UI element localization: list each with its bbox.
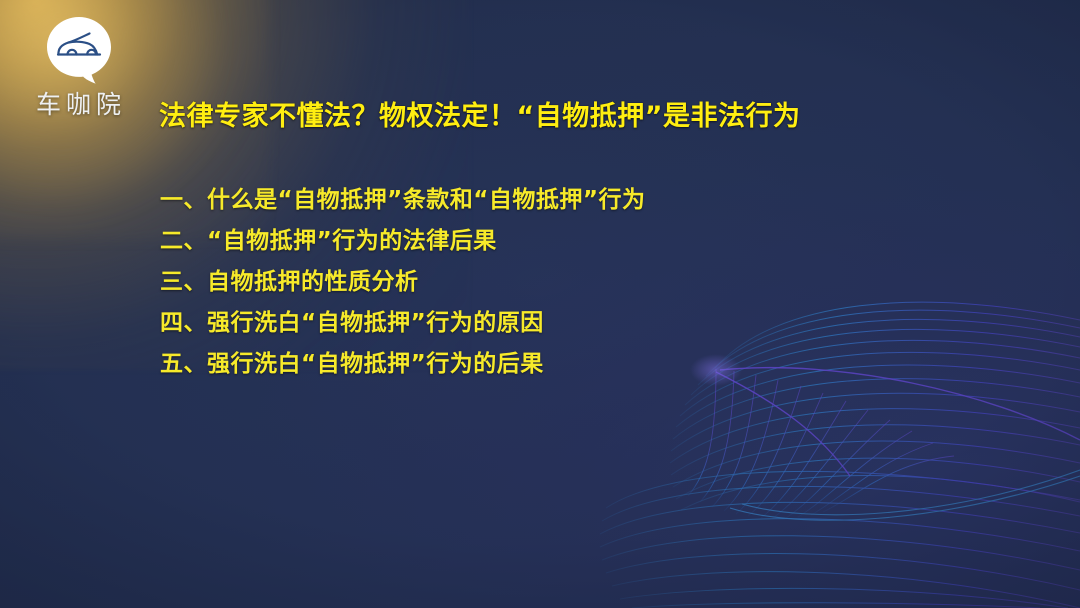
- list-item: 四、强行洗白“自物抵押”行为的原因: [160, 312, 940, 335]
- brand-wordmark: 车咖院: [16, 92, 142, 118]
- list-item: 二、“自物抵押”行为的法律后果: [160, 230, 940, 253]
- page-title: 法律专家不懂法？物权法定！“自物抵押”是非法行为: [159, 94, 801, 133]
- agenda-list: 一、什么是“自物抵押”条款和“自物抵押”行为 二、“自物抵押”行为的法律后果 三…: [160, 189, 940, 376]
- list-item: 三、自物抵押的性质分析: [160, 271, 940, 294]
- brand-logo: 车咖院: [16, 14, 142, 118]
- list-item: 五、强行洗白“自物抵押”行为的后果: [160, 353, 940, 376]
- speech-bubble-car-icon: [43, 14, 115, 86]
- list-item: 一、什么是“自物抵押”条款和“自物抵押”行为: [160, 189, 940, 212]
- slide-canvas: 车咖院 法律专家不懂法？物权法定！“自物抵押”是非法行为 一、什么是“自物抵押”…: [0, 0, 1080, 608]
